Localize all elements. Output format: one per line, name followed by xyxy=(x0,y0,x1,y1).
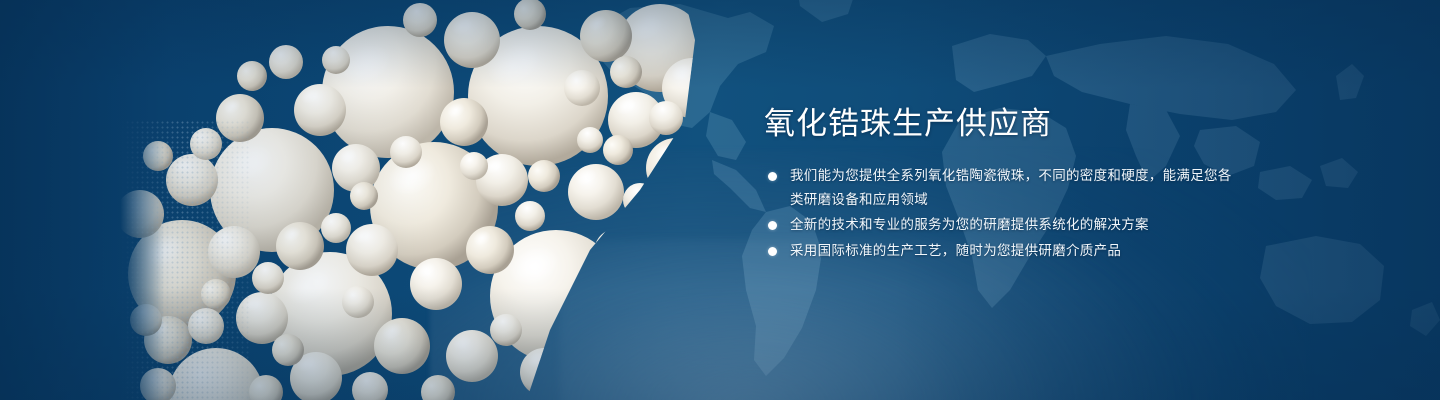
hero-banner: 氧化锆珠生产供应商 我们能为您提供全系列氧化锆陶瓷微珠，不同的密度和硬度，能满足… xyxy=(0,0,1440,400)
page-title: 氧化锆珠生产供应商 xyxy=(764,104,1232,144)
list-item: 我们能为您提供全系列氧化锆陶瓷微珠，不同的密度和硬度，能满足您各类研磨设备和应用… xyxy=(762,164,1232,211)
list-item: 采用国际标准的生产工艺，随时为您提供研磨介质产品 xyxy=(762,239,1232,263)
bullet-dot-icon xyxy=(768,221,777,230)
list-item-label: 全新的技术和专业的服务为您的研磨提供系统化的解决方案 xyxy=(790,213,1232,237)
list-item-label: 采用国际标准的生产工艺，随时为您提供研磨介质产品 xyxy=(790,239,1232,263)
bullet-dot-icon xyxy=(768,247,777,256)
bullet-dot-icon xyxy=(768,172,777,181)
banner-copy: 氧化锆珠生产供应商 我们能为您提供全系列氧化锆陶瓷微珠，不同的密度和硬度，能满足… xyxy=(762,104,1232,264)
list-item: 全新的技术和专业的服务为您的研磨提供系统化的解决方案 xyxy=(762,213,1232,237)
list-item-label: 我们能为您提供全系列氧化锆陶瓷微珠，不同的密度和硬度，能满足您各类研磨设备和应用… xyxy=(790,164,1232,211)
feature-list: 我们能为您提供全系列氧化锆陶瓷微珠，不同的密度和硬度，能满足您各类研磨设备和应用… xyxy=(762,164,1232,262)
